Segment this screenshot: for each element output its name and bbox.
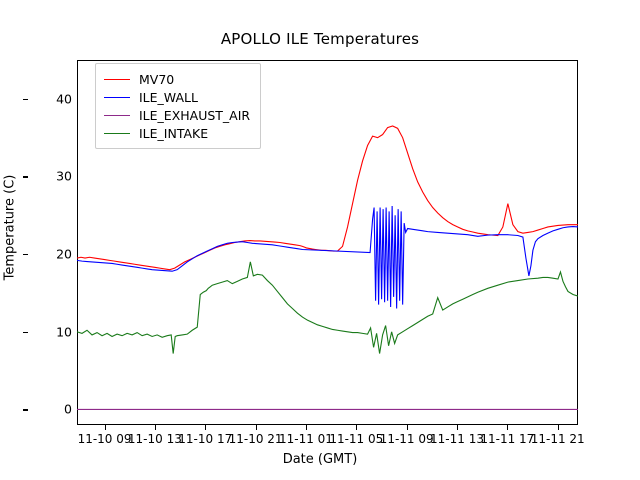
y-tick-mark (23, 176, 28, 177)
legend-swatch-icon (104, 97, 130, 98)
y-tick-mark (23, 99, 28, 100)
legend-swatch-icon (104, 133, 130, 134)
x-tick-label: 11-10 13 (128, 432, 182, 446)
y-axis-label: Temperature (C) (3, 138, 18, 318)
chart-title: APOLLO ILE Temperatures (0, 30, 640, 48)
x-tick-label: 11-10 17 (178, 432, 232, 446)
legend-item-ile_intake: ILE_INTAKE (104, 124, 250, 142)
x-tick-mark (457, 425, 458, 430)
y-tick-mark (23, 332, 28, 333)
legend-label: ILE_INTAKE (139, 126, 208, 141)
legend-label: MV70 (139, 72, 174, 87)
legend-label: ILE_EXHAUST_AIR (139, 108, 250, 123)
legend-swatch-icon (104, 79, 130, 80)
x-tick-label: 11-11 13 (430, 432, 484, 446)
x-axis-ticks: 11-10 0911-10 1311-10 1711-10 2111-11 01… (77, 425, 578, 449)
x-tick-mark (407, 425, 408, 430)
x-axis-label: Date (GMT) (0, 452, 640, 467)
y-axis-label-wrap: Temperature (C) (0, 60, 18, 425)
legend-item-mv70: MV70 (104, 70, 250, 88)
x-tick-label: 11-11 21 (531, 432, 585, 446)
y-axis-ticks: 010203040 (28, 60, 72, 425)
y-tick-label: 40 (32, 91, 72, 106)
y-tick-mark (23, 409, 28, 410)
x-tick-label: 11-11 17 (480, 432, 534, 446)
legend-swatch-icon (104, 115, 130, 116)
x-tick-label: 11-11 09 (380, 432, 434, 446)
y-tick-mark (23, 254, 28, 255)
x-tick-label: 11-11 05 (329, 432, 383, 446)
y-tick-label: 10 (32, 324, 72, 339)
x-tick-mark (155, 425, 156, 430)
x-tick-mark (205, 425, 206, 430)
legend-item-ile_exhaust_air: ILE_EXHAUST_AIR (104, 106, 250, 124)
y-tick-label: 0 (32, 402, 72, 417)
x-tick-mark (558, 425, 559, 430)
x-tick-mark (306, 425, 307, 430)
x-tick-label: 11-11 01 (279, 432, 333, 446)
x-tick-label: 11-10 21 (229, 432, 283, 446)
series-line-ile_wall (77, 206, 578, 309)
y-tick-label: 20 (32, 247, 72, 262)
x-tick-mark (256, 425, 257, 430)
x-tick-mark (507, 425, 508, 430)
legend: MV70ILE_WALLILE_EXHAUST_AIRILE_INTAKE (95, 63, 261, 149)
x-tick-label: 11-10 09 (78, 432, 132, 446)
x-tick-mark (105, 425, 106, 430)
y-tick-label: 30 (32, 169, 72, 184)
figure: APOLLO ILE Temperatures Temperature (C) … (0, 0, 640, 480)
legend-item-ile_wall: ILE_WALL (104, 88, 250, 106)
x-tick-mark (356, 425, 357, 430)
series-line-ile_intake (77, 262, 578, 354)
legend-label: ILE_WALL (139, 90, 198, 105)
